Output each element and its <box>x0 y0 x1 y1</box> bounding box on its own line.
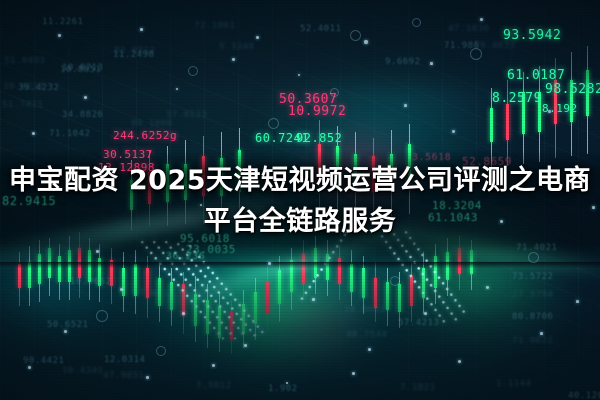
particle-dot <box>256 36 259 39</box>
page-title-line-1: 申宝配资 2025天津短视频运营公司评测之电商 <box>0 160 600 201</box>
particle-ring <box>96 310 108 322</box>
particle-dot <box>352 372 355 375</box>
particle-dot <box>430 62 433 65</box>
particle-dot <box>64 330 67 333</box>
particle-dot <box>232 58 235 61</box>
particle-ring <box>412 18 421 27</box>
particle-ring <box>528 252 539 263</box>
page-title: 申宝配资 2025天津短视频运营公司评测之电商 平台全链路服务 <box>0 160 600 242</box>
particle-dot <box>268 262 271 265</box>
page-title-line-2: 平台全链路服务 <box>0 201 600 242</box>
particle-dot <box>244 344 247 347</box>
particle-dot <box>140 28 143 31</box>
particle-dot <box>312 298 315 301</box>
particle-ring <box>350 30 361 41</box>
particle-dot <box>424 312 427 315</box>
particle-dot <box>182 312 185 315</box>
particle-dot <box>212 364 215 367</box>
particle-dot <box>548 110 551 113</box>
particle-dot <box>96 250 99 253</box>
particle-ring <box>390 276 400 286</box>
particle-dot <box>458 360 461 363</box>
banner-image: 93.594261.018798.52828.25798.19250.36071… <box>0 0 600 400</box>
particle-ring <box>268 118 279 129</box>
particle-dot <box>84 96 87 99</box>
particle-dot <box>480 18 483 21</box>
particle-ring <box>470 48 482 60</box>
particle-dot <box>146 376 149 379</box>
particle-dot <box>404 104 407 107</box>
particle-ring <box>188 66 198 76</box>
particle-dot <box>28 366 31 369</box>
particle-dot <box>576 300 579 303</box>
particle-dot <box>486 286 489 289</box>
particle-ring <box>330 88 339 97</box>
particle-dot <box>540 332 543 335</box>
particle-dot <box>364 40 368 44</box>
particle-ring <box>156 346 166 356</box>
